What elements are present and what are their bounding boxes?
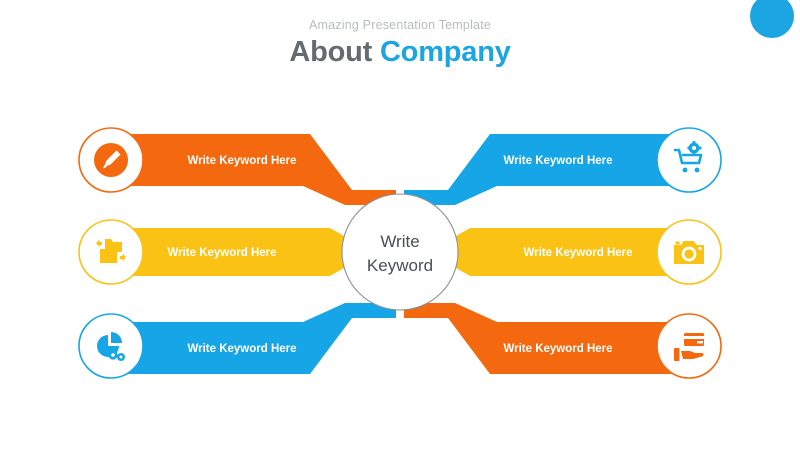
ribbon-left-1[interactable]: Write Keyword Here [108, 134, 396, 205]
icon-badge-right-1[interactable] [657, 128, 721, 192]
ribbon-right-1-label: Write Keyword Here [503, 155, 612, 167]
center-circle [342, 194, 458, 310]
company-diagram: Write Keyword Here Write Keyword Here Wr… [0, 0, 800, 450]
ribbon-right-2[interactable]: Write Keyword Here [428, 228, 692, 276]
ribbon-left-2-label: Write Keyword Here [167, 247, 276, 259]
ribbon-right-1-shape [404, 134, 692, 205]
icon-badge-left-3[interactable] [79, 314, 143, 378]
ribbon-left-3[interactable]: Write Keyword Here [108, 303, 396, 374]
ribbon-right-3-label: Write Keyword Here [503, 343, 612, 355]
slide-canvas: Amazing Presentation Template About Comp… [0, 0, 800, 450]
icon-badge-right-2[interactable] [657, 220, 721, 284]
ribbon-left-3-label: Write Keyword Here [187, 343, 296, 355]
ribbon-right-1[interactable]: Write Keyword Here [404, 134, 692, 205]
center-node[interactable]: Write Keyword [342, 194, 458, 310]
icon-badge-left-2[interactable] [79, 220, 143, 284]
icon-badge-right-1-ring [657, 128, 721, 192]
ribbon-right-3-shape [404, 303, 692, 374]
icon-badge-right-3[interactable] [657, 314, 721, 378]
ribbon-left-1-label: Write Keyword Here [187, 155, 296, 167]
ribbon-right-2-label: Write Keyword Here [523, 247, 632, 259]
ribbon-left-2[interactable]: Write Keyword Here [108, 228, 372, 276]
ribbon-left-1-shape [108, 134, 396, 205]
center-label-line2: Keyword [367, 256, 433, 275]
ribbon-right-3[interactable]: Write Keyword Here [404, 303, 692, 374]
ribbon-left-3-shape [108, 303, 396, 374]
icon-badge-left-1[interactable] [79, 128, 143, 192]
center-label-line1: Write [380, 232, 419, 251]
